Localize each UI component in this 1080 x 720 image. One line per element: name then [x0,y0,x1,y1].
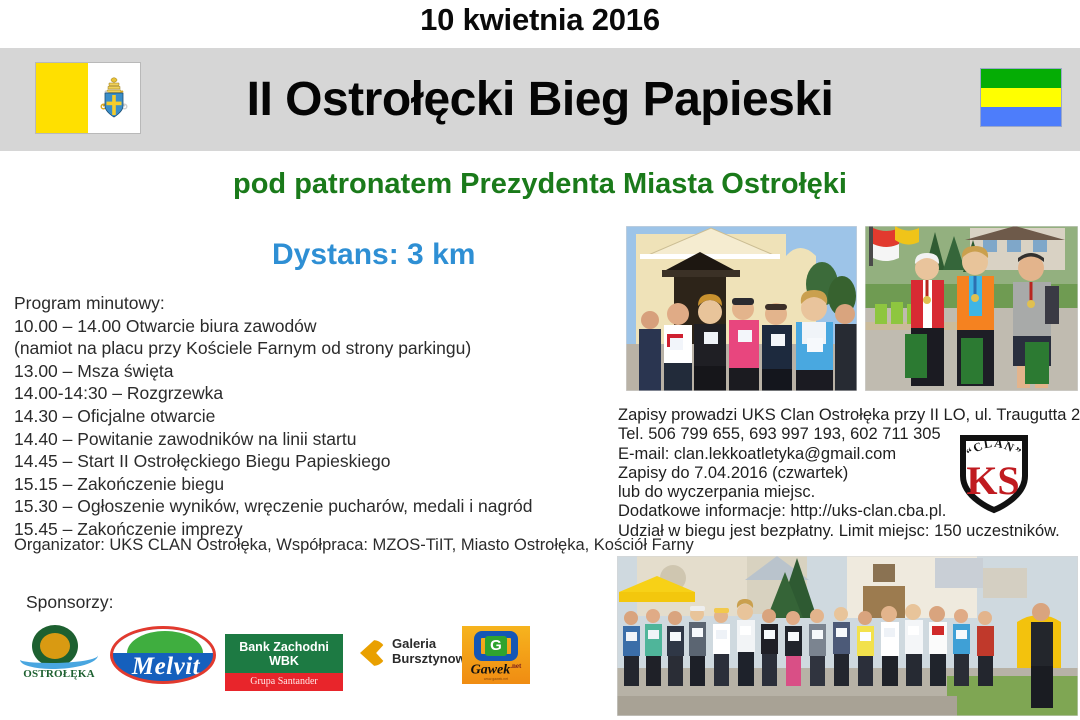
sponsor-wordmark: OSTROŁĘKA [18,668,100,680]
programme-item: 13.00 – Msza święta [14,360,614,383]
gawek-name: Gawek [471,663,511,678]
programme-item: 15.15 – Zakończenie biegu [14,473,614,496]
sponsor-wordmark: Melvit [113,653,216,681]
ostroleka-mark-icon [18,624,100,670]
organizer-line: Organizator: UKS CLAN Ostrołęka, Współpr… [14,536,694,555]
sponsor-logo-melvit[interactable]: Melvit [110,626,216,684]
programme-item: 14.30 – Oficjalne otwarcie [14,405,614,428]
city-flag-blue-stripe [981,107,1061,126]
programme-block: Program minutowy: 10.00 – 14.00 Otwarcie… [14,292,614,541]
ostroleka-flag-icon [980,68,1062,127]
sponsors-label: Sponsorzy: [26,592,114,613]
bank-name-text: Bank Zachodni WBK [225,634,343,673]
sponsor-logo-row: OSTROŁĘKA Melvit Bank Zachodni WBK Grupa… [10,618,610,694]
city-flag-green-stripe [981,69,1061,88]
melvit-oval-icon: Melvit [110,626,216,684]
galeria-line-1: Galeria [392,636,473,651]
ks-clan-logo: “CLAN” KS [957,432,1031,514]
programme-item: 14.40 – Powitanie zawodników na linii st… [14,428,614,451]
distance-label: Dystans: 3 km [272,238,475,272]
registration-line: Zapisy prowadzi UKS Clan Ostrołęka przy … [618,406,1080,425]
ks-monogram: KS [966,458,1019,503]
gawek-g-letter-icon: G [485,636,507,656]
bank-group-text: Grupa Santander [225,673,343,691]
page-title: II Ostrołęcki Bieg Papieski [0,48,1080,151]
photo-start-crowd [617,556,1078,716]
galeria-amber-icon [360,640,386,666]
programme-item: 14.00-14:30 – Rozgrzewka [14,382,614,405]
programme-heading: Program minutowy: [14,292,614,315]
sponsor-logo-galeria-bursztynowa[interactable]: Galeria Bursztynowa [360,634,470,676]
event-date: 10 kwietnia 2016 [0,2,1080,38]
registration-line: Udział w biegu jest bezpłatny. Limit mie… [618,522,1080,541]
patron-subtitle: pod patronatem Prezydenta Miasta Ostrołę… [0,168,1080,201]
sponsor-logo-bank-zachodni-wbk[interactable]: Bank Zachodni WBK Grupa Santander [225,634,343,676]
galeria-wordmark: Galeria Bursztynowa [392,636,473,666]
gawek-badge-icon: G Gawek.net www.gawek.net [462,626,530,684]
sponsor-logo-gawek-net[interactable]: G Gawek.net www.gawek.net [462,626,530,684]
city-flag-yellow-stripe [981,88,1061,107]
programme-item: 14.45 – Start II Ostrołęckiego Biegu Pap… [14,450,614,473]
gawek-suffix: .net [510,662,521,670]
sponsor-logo-ostroleka[interactable]: OSTROŁĘKA [18,624,100,688]
programme-item: 15.30 – Ogłoszenie wyników, wręczenie pu… [14,495,614,518]
gawek-tagline: www.gawek.net [462,677,530,681]
melvit-hill-icon [113,629,216,653]
galeria-line-2: Bursztynowa [392,651,473,666]
programme-item: 10.00 – 14.00 Otwarcie biura zawodów [14,315,614,338]
ostroleka-wave-icon [20,646,98,669]
programme-item: (namiot na placu przy Kościele Farnym od… [14,337,614,360]
photo-runners-church [626,226,857,391]
title-band: II Ostrołęcki Bieg Papieski [0,48,1080,151]
photo-podium-winners [865,226,1078,391]
